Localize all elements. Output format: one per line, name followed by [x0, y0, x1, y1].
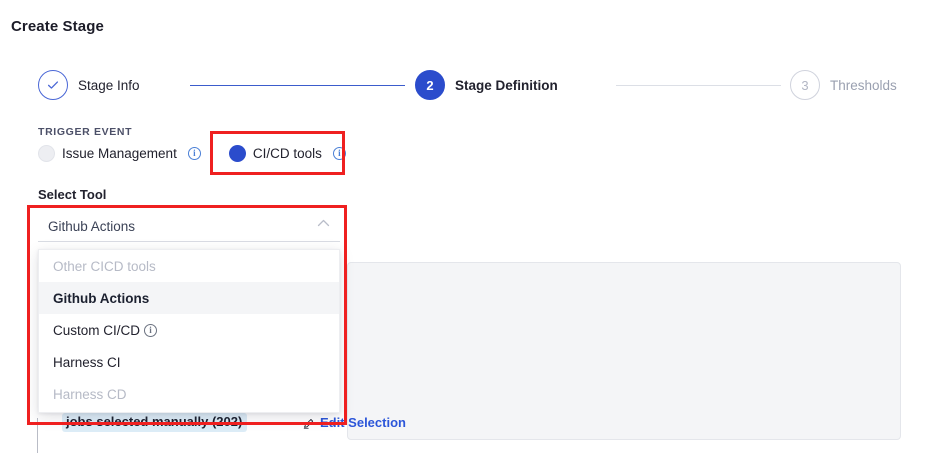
jobs-selected-text: jobs selected manually (202)	[66, 414, 242, 429]
stepper-connector-2-3	[616, 85, 781, 86]
option-harness-cd: Harness CD	[39, 378, 339, 410]
radio-issue-management-label: Issue Management	[62, 146, 177, 161]
info-icon-custom-cicd[interactable]: i	[144, 324, 157, 337]
step-1-label: Stage Info	[78, 78, 140, 93]
option-label: Other CICD tools	[53, 259, 156, 274]
option-label: Custom CI/CD	[53, 323, 140, 338]
edit-selection-label: Edit Selection	[320, 415, 406, 430]
pencil-icon	[303, 417, 315, 429]
option-other-cicd-tools: Other CICD tools	[39, 250, 339, 282]
radio-issue-management[interactable]: Issue Management i	[38, 145, 201, 162]
chevron-up-icon[interactable]	[318, 223, 328, 229]
create-stage-screen: Create Stage Stage Info 2 Stage Definiti…	[0, 0, 934, 453]
option-custom-cicd[interactable]: Custom CI/CD i	[39, 314, 339, 346]
option-label: Harness CI	[53, 355, 121, 370]
step-3-circle: 3	[790, 70, 820, 100]
radio-unselected-icon[interactable]	[38, 145, 55, 162]
select-tool-value: Github Actions	[48, 219, 135, 234]
page-title: Create Stage	[11, 18, 104, 35]
stepper-connector-1-2	[190, 85, 405, 86]
stepper-step-stage-info[interactable]: Stage Info	[38, 70, 140, 100]
stepper-step-thresholds[interactable]: 3 Thresholds	[790, 70, 897, 100]
stepper-step-stage-definition[interactable]: 2 Stage Definition	[415, 70, 558, 100]
option-harness-ci[interactable]: Harness CI	[39, 346, 339, 378]
select-tool-options-menu[interactable]: Other CICD tools Github Actions Custom C…	[38, 249, 340, 413]
select-tool-dropdown[interactable]: Github Actions	[38, 211, 340, 242]
option-label: Harness CD	[53, 387, 127, 402]
wizard-stepper: Stage Info 2 Stage Definition 3 Threshol…	[38, 70, 918, 112]
radio-selected-icon[interactable]	[229, 145, 246, 162]
edit-selection-link[interactable]: Edit Selection	[303, 415, 406, 430]
trigger-event-section-label: TRIGGER EVENT	[38, 126, 132, 138]
stage-definition-panel	[347, 262, 901, 440]
step-3-label: Thresholds	[830, 78, 897, 93]
radio-cicd-tools-label: CI/CD tools	[253, 146, 322, 161]
info-icon-issue-management[interactable]: i	[188, 147, 201, 160]
option-github-actions[interactable]: Github Actions	[39, 282, 339, 314]
panel-divider	[37, 418, 38, 453]
trigger-event-radio-group: Issue Management i CI/CD tools i	[38, 145, 346, 162]
step-1-circle	[38, 70, 68, 100]
step-2-label: Stage Definition	[455, 78, 558, 93]
info-icon-cicd-tools[interactable]: i	[333, 147, 346, 160]
step-2-circle: 2	[415, 70, 445, 100]
select-tool-label: Select Tool	[38, 187, 106, 202]
radio-cicd-tools[interactable]: CI/CD tools i	[229, 145, 346, 162]
check-icon	[46, 78, 60, 92]
option-label: Github Actions	[53, 291, 149, 306]
